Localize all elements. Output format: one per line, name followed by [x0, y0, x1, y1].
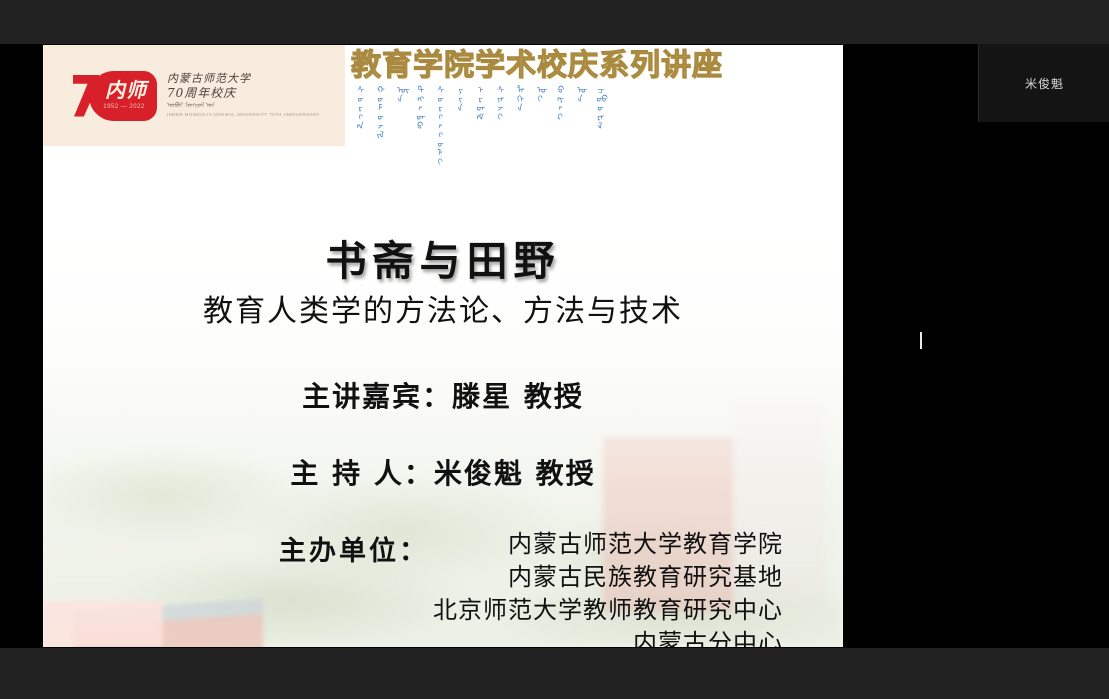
mongolian-column: ᠶᠢᠨ: [457, 87, 464, 114]
lecture-series-title: 教育学院学术校庆系列讲座: [351, 49, 843, 83]
logo-university-name: 内蒙古师范大学: [167, 73, 320, 86]
mongolian-column: ᠯᠡᠭᠡᠨ: [517, 87, 524, 114]
top-toolbar: [0, 0, 1109, 44]
organizer-item: 内蒙古分中心: [433, 627, 783, 647]
bottom-toolbar: [0, 648, 1109, 699]
mongolian-column: ᠣᠢ: [537, 87, 544, 105]
meeting-window: 内师 1952 — 2022 内蒙古师范大学 70周年校庆 ᠥᠪᠥᠷ ᠮᠣᠩᠭᠣ…: [0, 0, 1109, 699]
slide-header-banner: 内师 1952 — 2022 内蒙古师范大学 70周年校庆 ᠥᠪᠥᠷ ᠮᠣᠩᠭᠣ…: [43, 45, 843, 146]
mongolian-column: ᠡᠷᠳᠡᠮ: [477, 87, 484, 123]
banner-text-block: 教育学院学术校庆系列讲座 ᠰᠤᠷᠭᠠᠨ ᠬᠥᠮᠥᠵᠢᠯ ᠦᠨ ᠳᠡᠭᠡᠳᠦ ᠰᠤ…: [345, 45, 843, 146]
logo-anniversary-line: 70周年校庆: [167, 86, 320, 100]
mongolian-column: ᠬᠥᠮᠥᠵᠢᠯ: [377, 87, 384, 141]
slide-body: 书斋与田野 教育人类学的方法论、方法与技术 主讲嘉宾：滕星 教授 主 持 人：米…: [43, 146, 843, 647]
organizer-block: 主办单位： 内蒙古师范大学教育学院 内蒙古民族教育研究基地 北京师范大学教师教育…: [279, 528, 783, 647]
text-cursor-icon: [920, 332, 922, 349]
mongolian-column: ᠪᠠᠶᠠᠷ: [557, 87, 564, 123]
speaker-line: 主讲嘉宾：滕星 教授: [43, 375, 843, 415]
mongolian-column: ᠰᠤᠷᠭᠠᠨ: [357, 87, 364, 132]
lecture-title: 书斋与田野: [43, 227, 843, 287]
mongolian-column: ᠴᠤᠪᠤᠷᠠᠯ: [597, 87, 604, 132]
shared-screen-slide[interactable]: 内师 1952 — 2022 内蒙古师范大学 70周年校庆 ᠥᠪᠥᠷ ᠮᠣᠩᠭᠣ…: [43, 45, 843, 647]
logo-sub-line: INNER MONGOLIA NORMAL UNIVERSITY 70TH AN…: [167, 112, 320, 117]
logo-years-text: 1952 — 2022: [95, 104, 153, 110]
lecture-subtitle: 教育人类学的方法论、方法与技术: [43, 286, 843, 330]
mongolian-column: ᠳᠡᠭᠡᠳᠦ: [417, 87, 424, 132]
logo-mongolian-line: ᠥᠪᠥᠷ ᠮᠣᠩᠭᠣᠯ ᠤᠨ: [167, 103, 320, 110]
logo-wordmark: 内蒙古师范大学 70周年校庆 ᠥᠪᠥᠷ ᠮᠣᠩᠭᠣᠯ ᠤᠨ INNER MONG…: [167, 73, 320, 118]
university-70th-anniversary-logo-icon: 内师 1952 — 2022: [73, 71, 157, 121]
mongolian-script-row: ᠰᠤᠷᠭᠠᠨ ᠬᠥᠮᠥᠵᠢᠯ ᠦᠨ ᠳᠡᠭᠡᠳᠦ ᠰᠤᠷᠭᠠᠭᠤᠯᠢ ᠶᠢᠨ ᠡ…: [351, 87, 843, 143]
anniversary-logo-block: 内师 1952 — 2022 内蒙古师范大学 70周年校庆 ᠥᠪᠥᠷ ᠮᠣᠩᠭᠣ…: [43, 45, 345, 146]
host-line: 主 持 人：米俊魁 教授: [43, 452, 843, 492]
organizer-item: 内蒙古民族教育研究基地: [433, 561, 783, 594]
organizer-item: 内蒙古师范大学教育学院: [433, 528, 783, 561]
mongolian-column: ᠤᠨ: [577, 87, 584, 105]
organizer-label: 主办单位：: [279, 528, 429, 568]
logo-calligraphy-text: 内师: [97, 79, 155, 101]
organizer-item: 北京师范大学教师教育研究中心: [433, 594, 783, 627]
mongolian-column: ᠰᠢᠨᠵᠢ: [497, 87, 504, 123]
organizer-list: 内蒙古师范大学教育学院 内蒙古民族教育研究基地 北京师范大学教师教育研究中心 内…: [433, 528, 783, 647]
participant-video-tile[interactable]: 米俊魁: [978, 44, 1109, 122]
participant-name-label: 米俊魁: [1025, 75, 1064, 92]
mongolian-column: ᠦᠨ: [397, 87, 404, 105]
